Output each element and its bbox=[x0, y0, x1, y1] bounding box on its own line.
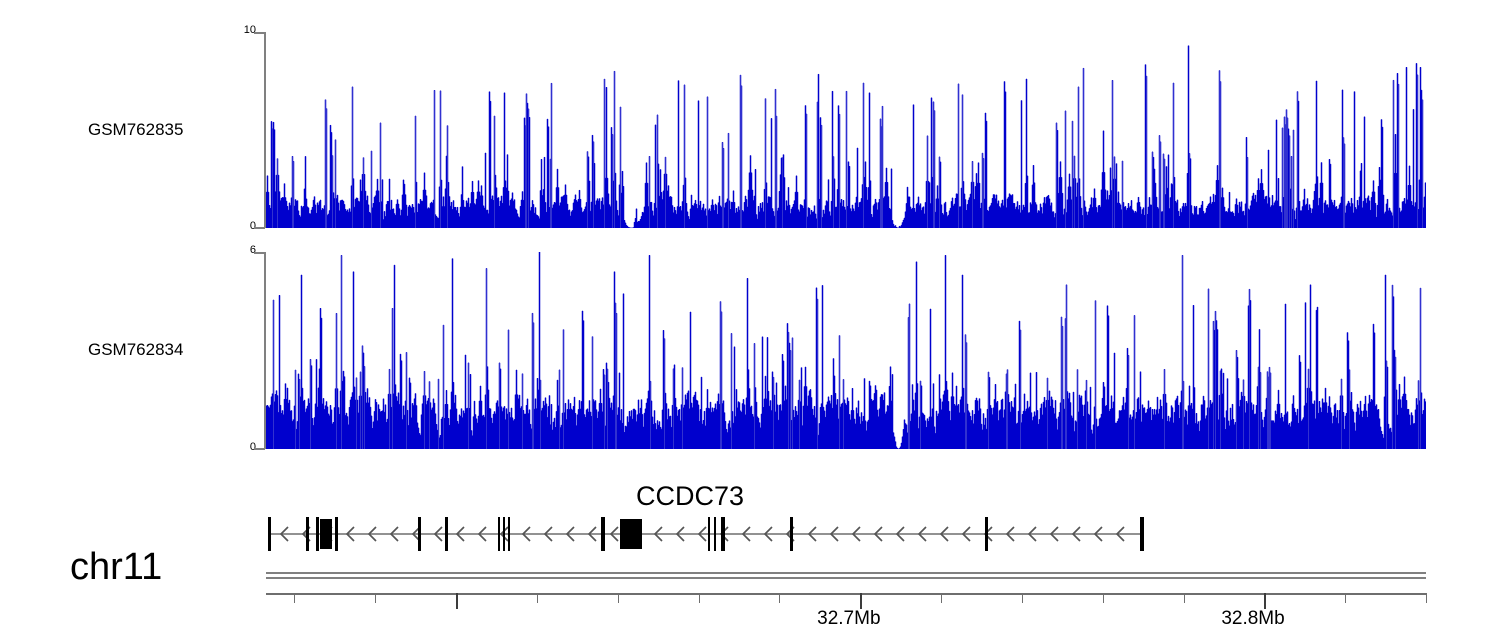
axis-tick bbox=[537, 593, 538, 603]
gene-exon bbox=[335, 517, 338, 551]
gene-exon bbox=[714, 517, 716, 551]
axis-tick bbox=[618, 593, 619, 603]
axis-tick bbox=[1264, 593, 1266, 609]
track-label-gsm762835: GSM762835 bbox=[88, 120, 183, 140]
track-label-gsm762834: GSM762834 bbox=[88, 340, 183, 360]
gene-exon bbox=[620, 519, 642, 549]
axis-tick bbox=[1184, 593, 1185, 603]
gene-exon bbox=[503, 517, 505, 551]
track2-y-min-label: 0 bbox=[228, 441, 256, 453]
axis-tick bbox=[941, 593, 942, 603]
genome-axis-line bbox=[266, 593, 1426, 595]
gene-model-track[interactable] bbox=[0, 512, 1500, 558]
track2-y-tick-bottom bbox=[254, 448, 265, 450]
track2-y-max-label: 6 bbox=[228, 244, 256, 256]
gene-exon bbox=[445, 517, 448, 551]
axis-tick bbox=[1426, 593, 1427, 603]
track1-y-tick-bottom bbox=[254, 227, 265, 229]
coverage-area bbox=[266, 252, 1426, 449]
track1-y-max-label: 10 bbox=[228, 24, 256, 36]
track1-y-min-label: 0 bbox=[228, 220, 256, 232]
axis-tick bbox=[375, 593, 376, 603]
gene-exon bbox=[268, 517, 271, 551]
genome-browser-figure: GSM762835 10 0 GSM762834 6 0 CCDC73 chr1… bbox=[0, 0, 1500, 640]
axis-tick bbox=[1103, 593, 1104, 603]
gene-exon bbox=[508, 517, 510, 551]
gene-exon bbox=[498, 517, 500, 551]
axis-label-32-7mb: 32.7Mb bbox=[817, 608, 880, 630]
coverage-area bbox=[266, 32, 1426, 228]
track1-y-tick-top bbox=[254, 32, 265, 34]
gene-name-label: CCDC73 bbox=[636, 481, 744, 512]
axis-tick bbox=[860, 593, 862, 609]
ideogram-bar-bottom bbox=[266, 577, 1426, 579]
gene-exon bbox=[320, 519, 332, 549]
gene-exon bbox=[418, 517, 421, 551]
gene-exon bbox=[790, 517, 793, 551]
axis-tick bbox=[699, 593, 700, 603]
axis-tick bbox=[1022, 593, 1023, 603]
gene-exon bbox=[721, 517, 725, 551]
axis-label-32-8mb: 32.8Mb bbox=[1221, 608, 1284, 630]
gene-exon bbox=[708, 517, 710, 551]
coverage-plot-gsm762835[interactable] bbox=[266, 32, 1426, 228]
gene-exon bbox=[306, 517, 309, 551]
chromosome-label: chr11 bbox=[70, 546, 162, 589]
axis-tick bbox=[1345, 593, 1346, 603]
axis-tick bbox=[456, 593, 458, 609]
gene-exon bbox=[1140, 517, 1144, 551]
axis-tick bbox=[779, 593, 780, 603]
axis-tick bbox=[294, 593, 295, 603]
coverage-plot-gsm762834[interactable] bbox=[266, 252, 1426, 449]
gene-model-svg bbox=[0, 512, 1500, 558]
gene-exon bbox=[601, 517, 605, 551]
gene-exon bbox=[985, 517, 988, 551]
gene-exon bbox=[316, 517, 319, 551]
track2-y-tick-top bbox=[254, 252, 265, 254]
ideogram-bar-top bbox=[266, 572, 1426, 574]
